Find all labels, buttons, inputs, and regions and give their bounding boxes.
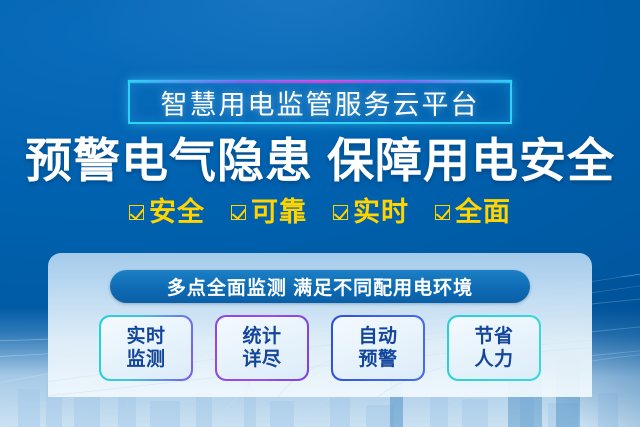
feature-box-line-2: 人力 — [474, 349, 513, 371]
platform-title-banner: 智慧用电监管服务云平台 — [128, 80, 512, 124]
checkbox-checked-icon — [129, 205, 144, 220]
check-item-reliable: 可靠 — [231, 199, 307, 226]
feature-box-realtime-monitoring[interactable]: 实时 监测 — [99, 315, 193, 381]
feature-box-labor-saving[interactable]: 节省 人力 — [447, 315, 541, 381]
feature-box-detailed-statistics[interactable]: 统计 详尽 — [215, 315, 309, 381]
headline-part-2: 保障用电安全 — [327, 134, 615, 187]
check-item-realtime: 实时 — [333, 199, 409, 226]
feature-box-line-1: 自动 — [358, 326, 397, 348]
feature-box-line-2: 监测 — [126, 349, 165, 371]
check-item-comprehensive: 全面 — [435, 199, 511, 226]
check-label: 安全 — [149, 199, 205, 226]
key-feature-checklist: 安全 可靠 实时 全面 — [0, 199, 640, 226]
card-subtitle-pill: 多点全面监测 满足不同配用电环境 — [110, 270, 530, 303]
check-item-security: 安全 — [129, 199, 205, 226]
checkbox-checked-icon — [333, 205, 348, 220]
check-label: 实时 — [353, 199, 409, 226]
feature-box-automatic-alert[interactable]: 自动 预警 — [331, 315, 425, 381]
check-label: 全面 — [455, 199, 511, 226]
page-headline: 预警电气隐患保障用电安全 — [0, 137, 640, 184]
feature-box-row: 实时 监测 统计 详尽 自动 预警 节省 人力 — [48, 315, 592, 381]
card-subtitle-text: 多点全面监测 满足不同配用电环境 — [167, 273, 473, 300]
headline-part-1: 预警电气隐患 — [25, 134, 313, 187]
feature-box-line-2: 详尽 — [242, 349, 281, 371]
checkbox-checked-icon — [231, 205, 246, 220]
promo-poster: 智慧用电监管服务云平台 预警电气隐患保障用电安全 安全 可靠 实时 全面 — [0, 0, 640, 427]
feature-box-line-1: 节省 — [474, 326, 513, 348]
checkbox-checked-icon — [435, 205, 450, 220]
feature-box-line-1: 统计 — [242, 326, 281, 348]
feature-box-line-2: 预警 — [358, 349, 397, 371]
platform-title: 智慧用电监管服务云平台 — [161, 83, 480, 122]
feature-box-line-1: 实时 — [126, 326, 165, 348]
check-label: 可靠 — [251, 199, 307, 226]
